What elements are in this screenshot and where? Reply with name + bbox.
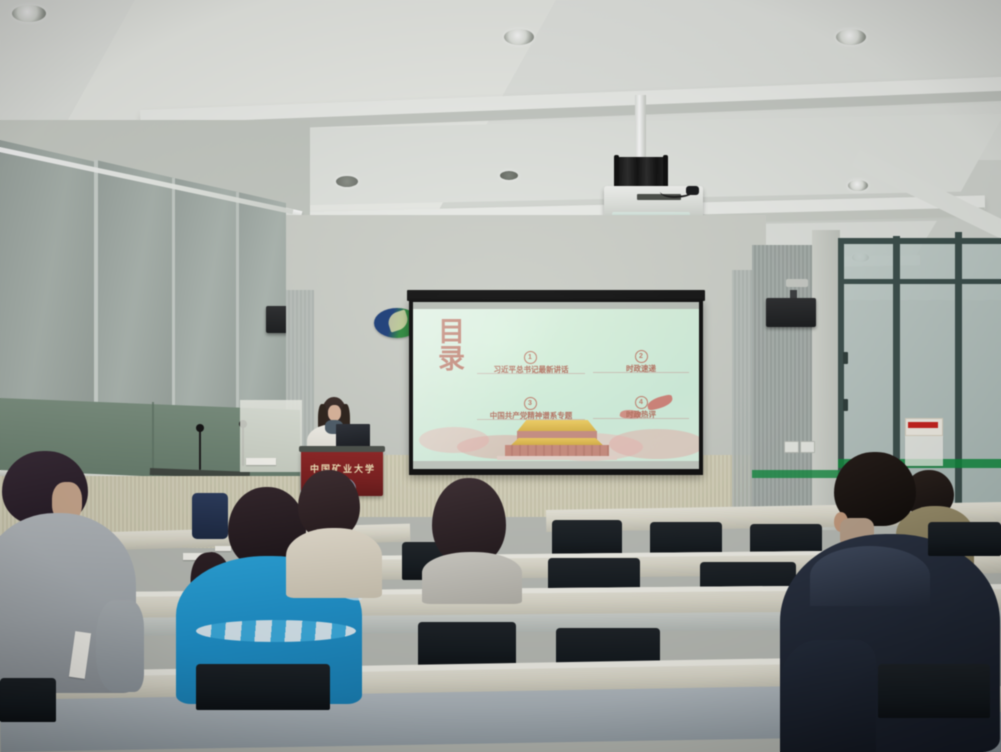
projector-bracket-arm-left xyxy=(614,155,619,189)
downlight-4 xyxy=(504,29,534,45)
right-wall-speaker xyxy=(766,298,816,327)
blind-panel-3[interactable] xyxy=(174,178,238,440)
attendee-suit-arm xyxy=(780,640,876,752)
wall-green-band xyxy=(752,470,840,478)
right-speaker-bracket xyxy=(790,290,797,298)
chair-front-right[interactable] xyxy=(878,664,990,718)
door-poster xyxy=(905,436,943,466)
downlight-10 xyxy=(500,171,518,180)
desk-paper-left xyxy=(246,458,276,465)
chair-back-right-1[interactable] xyxy=(928,522,1001,556)
chair-front-blue[interactable] xyxy=(196,664,330,710)
door-handle-lower[interactable] xyxy=(843,399,848,411)
right-wall-panel xyxy=(752,245,818,525)
mullion-vertical-3 xyxy=(955,232,962,510)
downlight-1 xyxy=(12,5,46,22)
chair-far-1[interactable] xyxy=(552,520,622,556)
attendee-left-arm xyxy=(96,600,144,692)
blind-panel-2[interactable] xyxy=(96,160,174,435)
lecture-hall-photo: 目录 1 习近平总书记最新讲话 2 时政速递 3 中国共产党精神谱系专题 4 时… xyxy=(0,0,1001,752)
mullion-header xyxy=(838,238,1001,244)
presenter-face xyxy=(328,405,341,421)
right-ceiling-mount xyxy=(786,279,808,287)
projector-screen-bottom-strip xyxy=(413,461,699,469)
podium-top-surface xyxy=(299,446,385,452)
blind-seam-3 xyxy=(236,192,239,440)
microphone-1-stem xyxy=(199,428,201,470)
attendee-center-body xyxy=(422,552,522,604)
presenter-laptop-screen xyxy=(336,424,370,448)
attendee-cream-body xyxy=(286,528,382,598)
office-chair-blue[interactable] xyxy=(192,493,228,539)
downlight-2 xyxy=(336,176,358,187)
attendee-suit-shoulder-highlight xyxy=(810,546,930,606)
mullion-horizontal-top xyxy=(838,279,1001,284)
door-handle-upper[interactable] xyxy=(843,352,848,364)
blind-seam-2 xyxy=(172,178,175,436)
downlight-5 xyxy=(836,29,866,45)
attendee-blue-tiedye-band xyxy=(196,620,356,642)
projector-screen-surface: 目录 1 习近平总书记最新讲话 2 时政速递 3 中国共产党精神谱系专题 4 时… xyxy=(413,309,699,461)
door-notice-sign-bar xyxy=(908,422,938,428)
blind-seam-1 xyxy=(94,160,98,432)
wall-outlet-2[interactable] xyxy=(800,441,815,453)
blind-panel-1[interactable] xyxy=(0,140,96,430)
wall-outlet-1[interactable] xyxy=(784,441,799,453)
projector-screen-top-strip xyxy=(413,302,699,309)
screen-glare xyxy=(413,309,699,461)
microphone-1-head xyxy=(196,424,204,432)
projector-bracket xyxy=(618,157,666,189)
downlight-6 xyxy=(848,180,868,191)
desk-paper-row-left-2 xyxy=(215,546,231,551)
projector-mount-rod xyxy=(635,95,646,163)
chair-front-left[interactable] xyxy=(0,678,56,722)
